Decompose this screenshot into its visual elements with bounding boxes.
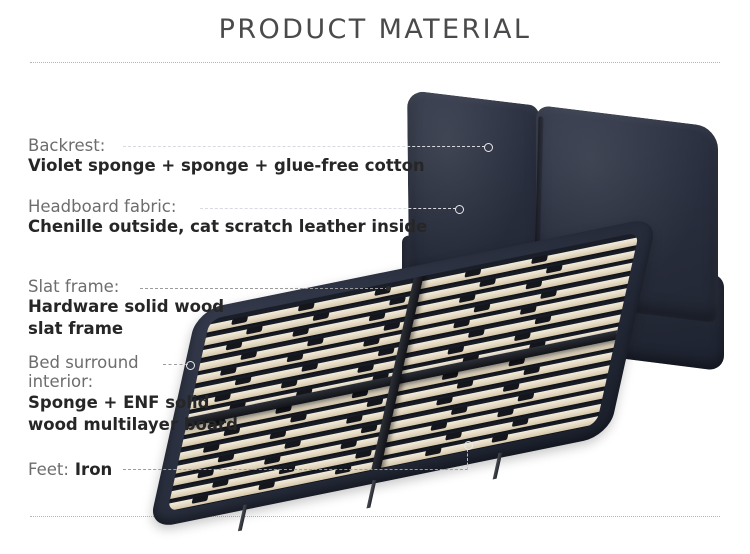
callout-bed-surround-label-line2: interior: <box>28 372 238 391</box>
leader-feet-vertical <box>467 449 468 470</box>
divider-top <box>30 62 720 63</box>
divider-bottom <box>30 516 720 517</box>
marker-backrest <box>484 143 493 152</box>
callout-backrest: Backrest: Violet sponge + sponge + glue-… <box>28 136 425 177</box>
callout-headboard-fabric-value: Chenille outside, cat scratch leather in… <box>28 216 427 238</box>
callout-bed-surround-label-line1: Bed surround <box>28 353 238 372</box>
callout-backrest-label: Backrest: <box>28 136 425 155</box>
callout-feet-label: Feet: <box>28 460 69 479</box>
callout-slat-frame-label: Slat frame: <box>28 277 224 296</box>
infographic-page: PRODUCT MATERIAL <box>0 0 750 540</box>
callout-headboard-fabric-label: Headboard fabric: <box>28 197 427 216</box>
callout-bed-surround-interior: Bed surround interior: Sponge + ENF soli… <box>28 353 238 436</box>
callout-feet: Feet: Iron <box>28 459 112 481</box>
marker-headboard-fabric <box>455 205 464 214</box>
callout-bed-surround-value-line1: Sponge + ENF solid <box>28 392 238 414</box>
marker-feet <box>464 441 473 450</box>
callout-backrest-value: Violet sponge + sponge + glue-free cotto… <box>28 155 425 177</box>
callout-slat-frame-value-line2: slat frame <box>28 318 224 340</box>
callout-headboard-fabric: Headboard fabric: Chenille outside, cat … <box>28 197 427 238</box>
callout-slat-frame-value-line1: Hardware solid wood <box>28 296 224 318</box>
callout-bed-surround-value-line2: wood multilayer board <box>28 414 238 436</box>
callout-feet-value: Iron <box>75 459 112 481</box>
marker-slat-frame <box>386 286 391 291</box>
page-title: PRODUCT MATERIAL <box>0 14 750 45</box>
leader-feet <box>123 469 468 470</box>
callout-slat-frame: Slat frame: Hardware solid wood slat fra… <box>28 277 224 340</box>
